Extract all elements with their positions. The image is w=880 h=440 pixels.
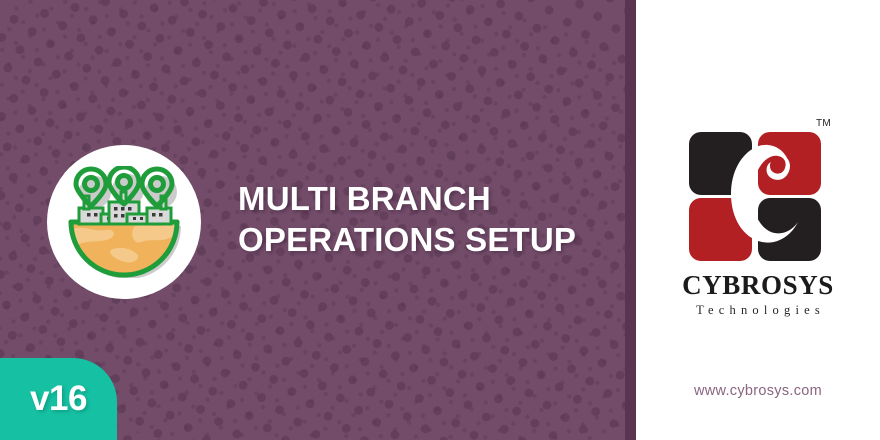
title-line-1: MULTI BRANCH: [238, 178, 618, 219]
promo-banner: MULTI BRANCH OPERATIONS SETUP v16: [0, 0, 880, 440]
cybrosys-logo-icon: TM: [683, 118, 833, 262]
panel-divider: [625, 0, 636, 440]
left-purple-panel: MULTI BRANCH OPERATIONS SETUP v16: [0, 0, 636, 440]
title-line-2: OPERATIONS SETUP: [238, 219, 618, 260]
multi-branch-globe-icon: [47, 145, 201, 299]
version-badge: v16: [0, 358, 117, 440]
website-url: www.cybrosys.com: [636, 383, 880, 399]
brand-subtitle: Technologies: [691, 303, 825, 318]
page-title: MULTI BRANCH OPERATIONS SETUP: [238, 178, 618, 260]
right-white-panel: TM CYBROSYS Technologies www.cybrosys.co…: [636, 0, 880, 440]
brand-logo-block: TM CYBROSYS Technologies: [636, 118, 880, 318]
brand-name: CYBROSYS: [682, 271, 834, 300]
trademark-icon: TM: [816, 118, 831, 129]
version-badge-label: v16: [30, 381, 87, 418]
